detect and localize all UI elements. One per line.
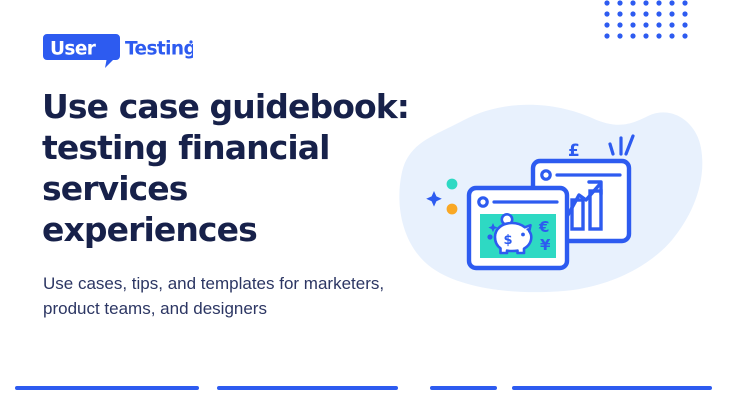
logo-trademark-icon [189,40,192,43]
bottom-rule-3 [430,386,497,390]
piggy-coin-dot [487,234,492,239]
browser-window-piggy-bank: $ € ¥ [469,188,567,268]
page-title: Use case guidebook: testing financial se… [42,86,412,250]
bottom-rule-set [0,386,736,392]
yen-symbol: ¥ [540,236,551,254]
pound-symbol: £ [568,141,580,161]
logo-bubble-text: User [50,39,97,60]
financial-services-illustration: £ [396,96,708,296]
orange-dot [447,204,458,215]
cover-page: User Testing Use case guidebook: testing… [0,0,736,400]
euro-symbol: € [538,218,549,236]
teal-dot [447,179,458,190]
bottom-rule-4 [512,386,712,390]
bottom-rule-1 [15,386,199,390]
bottom-rule-2 [217,386,398,390]
usertesting-logo: User Testing [43,34,193,70]
logo-wordmark-text: Testing [125,39,193,60]
dollar-symbol: $ [504,233,513,248]
dot-grid-pattern [604,0,688,42]
page-subtitle: Use cases, tips, and templates for marke… [43,271,423,321]
